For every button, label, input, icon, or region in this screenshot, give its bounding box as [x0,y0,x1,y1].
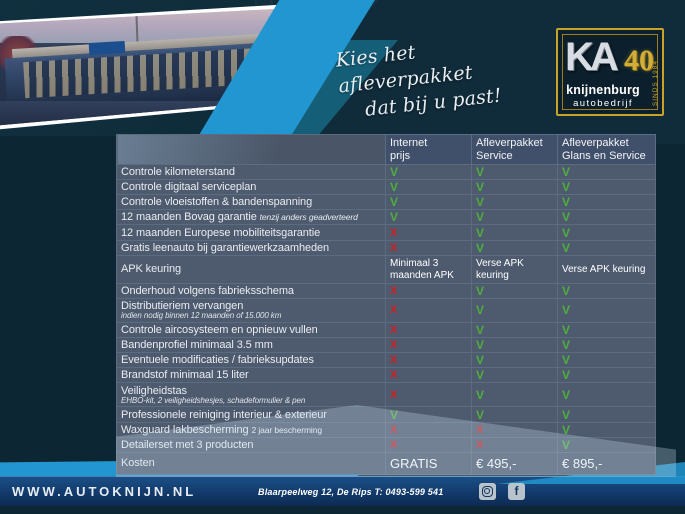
cell-glans: V [558,240,656,255]
feature-label: Controle digitaal serviceplan [121,181,256,193]
feature-cell: Eventuele modificaties / fabrieksupdates [117,353,386,368]
check-mark-icon: V [476,195,484,209]
logo-company-subtitle: autobedrijf [558,98,648,109]
cell-internet: X [386,422,472,437]
table-header-row: InternetprijsAfleverpakketServiceAflever… [117,135,656,165]
check-mark-icon: V [476,323,484,337]
check-mark-icon: V [476,408,484,422]
cell-glans: Verse APK keuring [558,255,656,283]
feature-cell: Controle vloeistoffen & bandenspanning [117,195,386,210]
column-header-internet: Internetprijs [386,135,472,165]
feature-label: Controle vloeistoffen & bandenspanning [121,196,312,208]
cell-service: X [472,422,558,437]
table-row: Onderhoud volgens fabrieksschemaXVV [117,283,656,298]
cell-internet: X [386,298,472,322]
table-row: 12 maanden Europese mobiliteitsgarantieX… [117,225,656,240]
cell-glans: V [558,323,656,338]
cross-mark-icon: X [390,242,397,254]
feature-label: Gratis leenauto bij garantiewerkzaamhede… [121,242,329,254]
cell-internet: X [386,323,472,338]
cost-glans: € 895,- [558,452,656,474]
feature-label: Controle aircosysteem en opnieuw vullen [121,324,318,336]
cell-service: V [472,195,558,210]
cell-internet: V [386,180,472,195]
cell-glans: V [558,383,656,407]
feature-label: Controle kilometerstand [121,166,235,178]
cell-service: V [472,240,558,255]
feature-label: Waxguard lakbescherming 2 jaar beschermi… [121,424,322,436]
cell-service: V [472,353,558,368]
cross-mark-icon: X [390,424,397,436]
cell-internet: X [386,383,472,407]
footer-address: Blaarpeelweg 12, De Rips T: 0493-599 541 [258,487,443,497]
table-row: Brandstof minimaal 15 literXVV [117,368,656,383]
cell-service: V [472,383,558,407]
check-mark-icon: V [476,284,484,298]
check-mark-icon: V [476,226,484,240]
feature-cell: Brandstof minimaal 15 liter [117,368,386,383]
check-mark-icon: V [476,388,484,402]
cost-label: Kosten [117,452,386,474]
logo-anniversary-badge: 40 [624,46,654,76]
check-mark-icon: V [562,423,570,437]
table-row: Detailerset met 3 productenXXV [117,437,656,452]
table-row: Controle kilometerstandVVV [117,165,656,180]
table-row: Controle digitaal serviceplanVVV [117,180,656,195]
check-mark-icon: V [562,241,570,255]
cell-internet: V [386,165,472,180]
cell-service: V [472,165,558,180]
feature-cell: APK keuring [117,255,386,283]
footer-bar: WWW.AUTOKNIJN.NL Blaarpeelweg 12, De Rip… [0,476,685,506]
cell-service: V [472,298,558,322]
footer-website-url[interactable]: WWW.AUTOKNIJN.NL [12,484,196,499]
package-comparison-table: InternetprijsAfleverpakketServiceAflever… [116,134,656,475]
column-header-glans: AfleverpakketGlans en Service [558,135,656,165]
check-mark-icon: V [476,180,484,194]
cell-service: V [472,338,558,353]
cell-service: V [472,407,558,422]
cost-row: KostenGRATIS€ 495,-€ 895,- [117,452,656,474]
cell-glans: V [558,368,656,383]
check-mark-icon: V [476,241,484,255]
logo-company-name: knijnenburg [558,83,648,97]
cell-internet: X [386,225,472,240]
poster-canvas: Kies het afleverpakket dat bij u past! K… [0,0,685,514]
check-mark-icon: V [476,303,484,317]
cross-mark-icon: X [390,389,397,401]
cross-mark-icon: X [390,285,397,297]
table-row: Controle aircosysteem en opnieuw vullenX… [117,323,656,338]
check-mark-icon: V [562,195,570,209]
feature-cell: Detailerset met 3 producten [117,437,386,452]
cell-service: V [472,225,558,240]
feature-cell: Professionele reiniging interieur & exte… [117,407,386,422]
check-mark-icon: V [562,180,570,194]
cell-glans: V [558,353,656,368]
cell-service: V [472,368,558,383]
cross-mark-icon: X [390,354,397,366]
check-mark-icon: V [562,368,570,382]
cost-internet: GRATIS [386,452,472,474]
feature-cell: Bandenprofiel minimaal 3.5 mm [117,338,386,353]
cell-glans: V [558,338,656,353]
cell-service: V [472,323,558,338]
cell-glans: V [558,298,656,322]
cell-text: Verse APK keuring [476,258,524,282]
cell-internet: X [386,437,472,452]
table-row: VeiligheidstasEHBO-kit, 2 veiligheidshes… [117,383,656,407]
cell-glans: V [558,407,656,422]
cell-glans: V [558,165,656,180]
cell-glans: V [558,283,656,298]
cross-mark-icon: X [390,439,397,451]
cross-mark-icon: X [390,339,397,351]
cell-glans: V [558,422,656,437]
check-mark-icon: V [390,180,398,194]
check-mark-icon: V [562,438,570,452]
check-mark-icon: V [562,303,570,317]
feature-cell: Onderhoud volgens fabrieksschema [117,283,386,298]
check-mark-icon: V [476,210,484,224]
check-mark-icon: V [390,165,398,179]
feature-label: Brandstof minimaal 15 liter [121,369,249,381]
feature-sublabel: EHBO-kit, 2 veiligheidshesjes, schadefor… [121,396,381,405]
feature-label: Professionele reiniging interieur & exte… [121,409,327,421]
feature-label: Eventuele modificaties / fabrieksupdates [121,354,314,366]
instagram-icon[interactable] [479,483,496,500]
feature-sublabel: indien nodig binnen 12 maanden of 15.000… [121,311,381,320]
cross-mark-icon: X [390,227,397,239]
cell-text: Verse APK keuring [562,264,645,275]
cell-glans: V [558,225,656,240]
logo-since-text: SINDS 1984 [652,60,659,106]
cell-internet: Minimaal 3 maanden APK [386,255,472,283]
feature-cell: Distributieriem vervangenindien nodig bi… [117,298,386,322]
feature-label: Onderhoud volgens fabrieksschema [121,285,294,297]
table-row: Controle vloeistoffen & bandenspanningVV… [117,195,656,210]
check-mark-icon: V [476,165,484,179]
table-row: Distributieriem vervangenindien nodig bi… [117,298,656,322]
feature-label: Detailerset met 3 producten [121,439,253,451]
check-mark-icon: V [476,338,484,352]
cell-glans: V [558,437,656,452]
check-mark-icon: V [562,284,570,298]
feature-label: 12 maanden Bovag garantie tenzij anders … [121,211,358,223]
cell-service: V [472,283,558,298]
company-logo: KA 40 knijnenburg autobedrijf SINDS 1984 [556,28,664,116]
facebook-icon[interactable]: f [508,483,525,500]
cell-internet: V [386,210,472,225]
cell-service: Verse APK keuring [472,255,558,283]
table-row: Waxguard lakbescherming 2 jaar beschermi… [117,422,656,437]
check-mark-icon: V [562,210,570,224]
feature-cell: Controle aircosysteem en opnieuw vullen [117,323,386,338]
feature-cell: 12 maanden Bovag garantie tenzij anders … [117,210,386,225]
check-mark-icon: V [562,226,570,240]
cell-text: Minimaal 3 maanden APK [390,258,454,282]
cell-internet: V [386,407,472,422]
cell-internet: X [386,353,472,368]
check-mark-icon: V [562,353,570,367]
cell-internet: V [386,195,472,210]
cell-internet: X [386,283,472,298]
cross-mark-icon: X [390,369,397,381]
cell-glans: V [558,195,656,210]
table-row: APK keuringMinimaal 3 maanden APKVerse A… [117,255,656,283]
cell-internet: X [386,240,472,255]
feature-cell: Controle digitaal serviceplan [117,180,386,195]
cross-mark-icon: X [476,439,483,451]
check-mark-icon: V [476,353,484,367]
feature-cell: Waxguard lakbescherming 2 jaar beschermi… [117,422,386,437]
cell-service: X [472,437,558,452]
cell-glans: V [558,180,656,195]
table-row: Eventuele modificaties / fabrieksupdates… [117,353,656,368]
cell-internet: X [386,368,472,383]
table-row: Professionele reiniging interieur & exte… [117,407,656,422]
feature-cell: Gratis leenauto bij garantiewerkzaamhede… [117,240,386,255]
cell-glans: V [558,210,656,225]
cross-mark-icon: X [476,424,483,436]
cross-mark-icon: X [390,304,397,316]
check-mark-icon: V [562,165,570,179]
check-mark-icon: V [390,210,398,224]
feature-label: Bandenprofiel minimaal 3.5 mm [121,339,273,351]
feature-label: 12 maanden Europese mobiliteitsgarantie [121,227,320,239]
header-blank-cell [117,135,386,165]
cost-service: € 495,- [472,452,558,474]
table-row: Gratis leenauto bij garantiewerkzaamhede… [117,240,656,255]
feature-cell: Controle kilometerstand [117,165,386,180]
cross-mark-icon: X [390,324,397,336]
check-mark-icon: V [562,323,570,337]
check-mark-icon: V [562,338,570,352]
cell-service: V [472,210,558,225]
feature-label: APK keuring [121,263,181,275]
feature-cell: 12 maanden Europese mobiliteitsgarantie [117,225,386,240]
check-mark-icon: V [562,388,570,402]
table-row: Bandenprofiel minimaal 3.5 mmXVV [117,338,656,353]
table-row: 12 maanden Bovag garantie tenzij anders … [117,210,656,225]
check-mark-icon: V [390,408,398,422]
check-mark-icon: V [390,195,398,209]
check-mark-icon: V [476,368,484,382]
cell-internet: X [386,338,472,353]
feature-cell: VeiligheidstasEHBO-kit, 2 veiligheidshes… [117,383,386,407]
check-mark-icon: V [562,408,570,422]
column-header-service: AfleverpakketService [472,135,558,165]
cell-service: V [472,180,558,195]
